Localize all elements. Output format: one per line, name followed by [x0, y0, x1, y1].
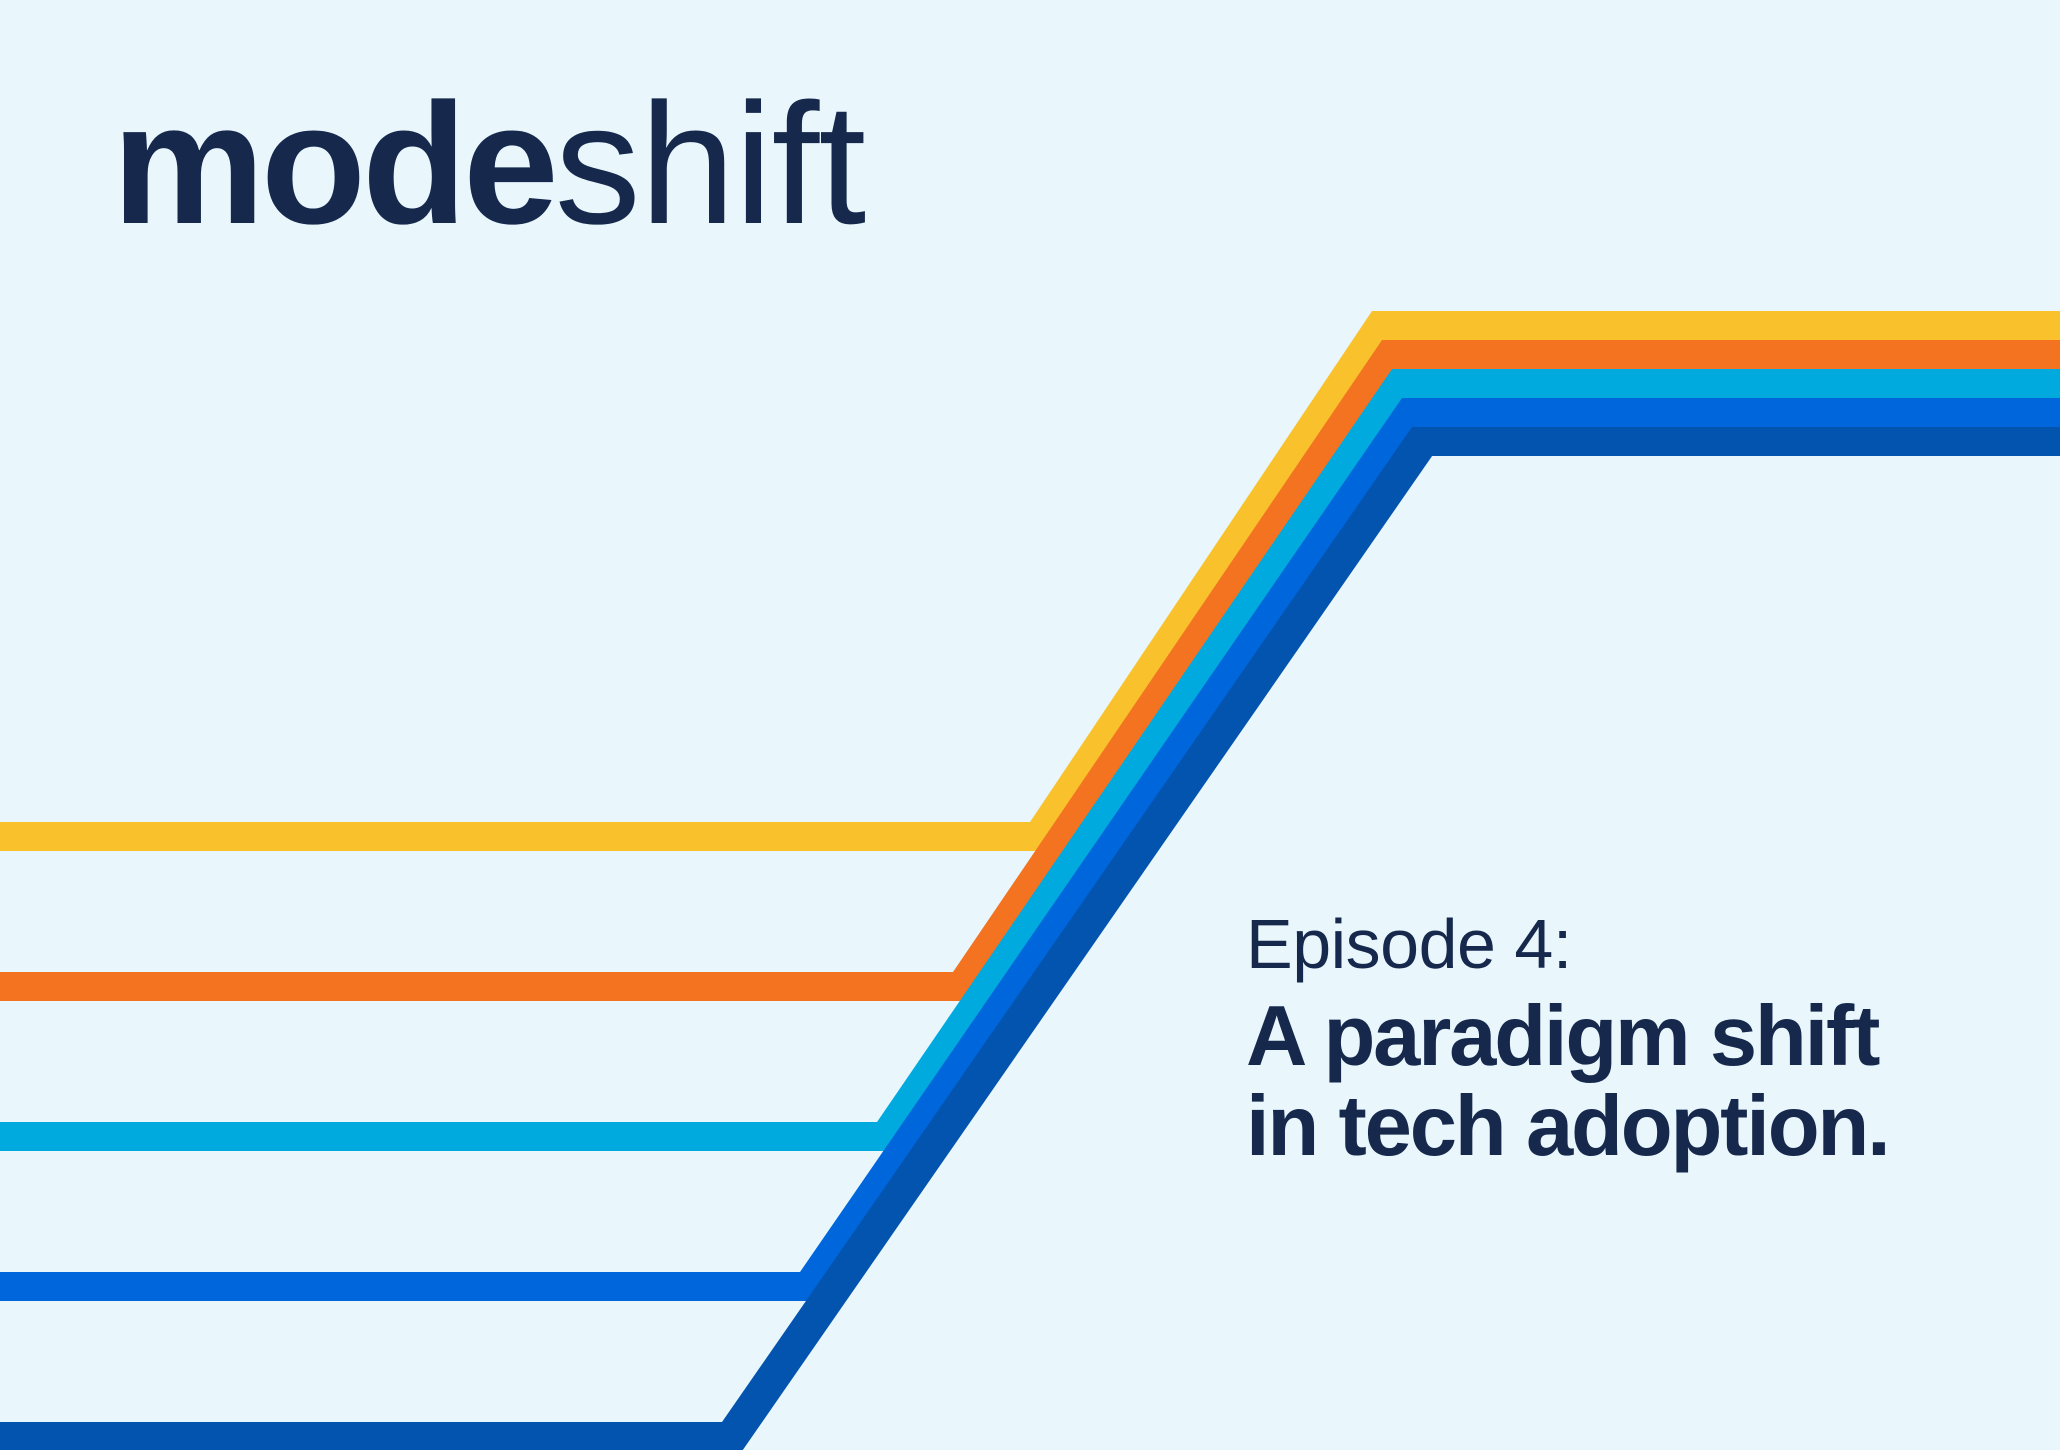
logo-shift-text: shift	[555, 68, 865, 260]
episode-title: A paradigm shift in tech adoption.	[1246, 992, 1906, 1174]
episode-text-block: Episode 4: A paradigm shift in tech adop…	[1246, 908, 1946, 1173]
logo-mode-text: mode	[112, 68, 555, 260]
podcast-cover-canvas: modeshift Episode 4: A paradigm shift in…	[0, 0, 2060, 1450]
brand-logo: modeshift	[112, 78, 865, 250]
episode-label: Episode 4:	[1246, 908, 1946, 982]
